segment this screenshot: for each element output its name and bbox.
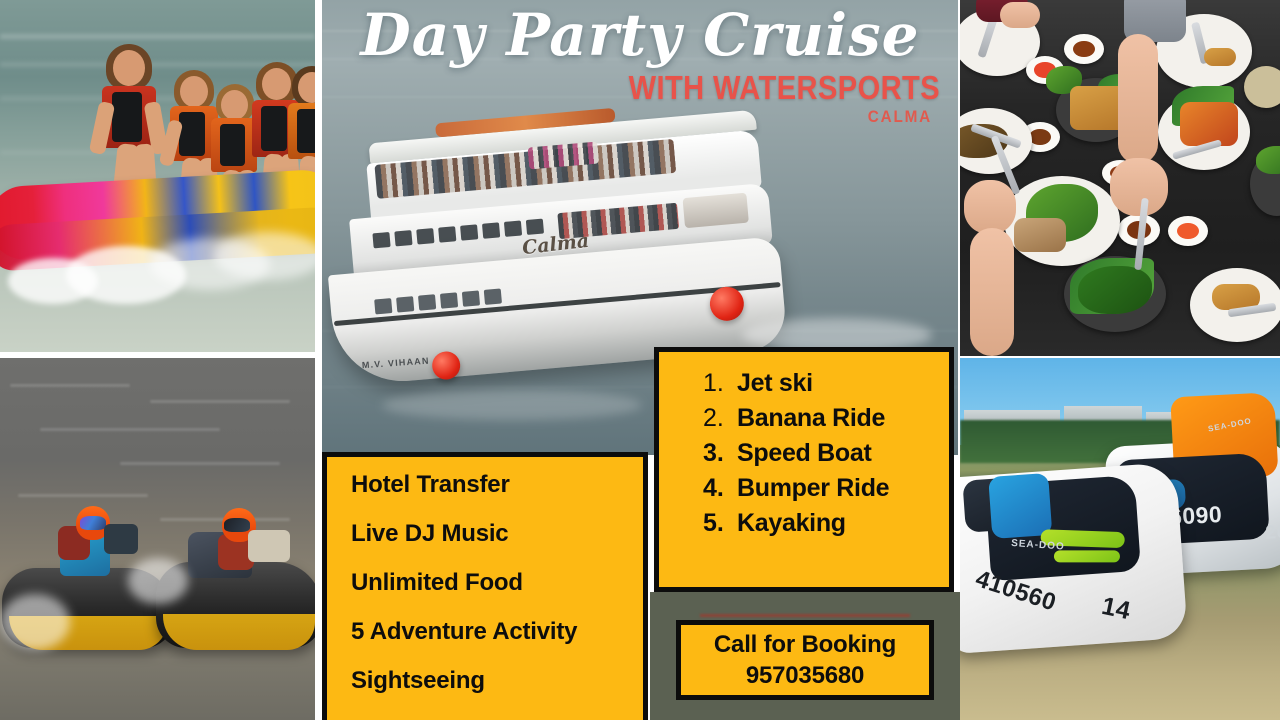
activity-label: Bumper Ride	[737, 475, 889, 501]
activity-item: 3. Speed Boat	[659, 440, 949, 466]
decorative-smudge	[700, 614, 910, 617]
poster-collage: 456090 20 SEA-DOO 410560 14 SEA-DOO	[0, 0, 1280, 720]
jet-ski-front: 410560 14 SEA-DOO	[960, 462, 1188, 654]
activity-label: Banana Ride	[737, 405, 885, 431]
activity-label: Kayaking	[737, 510, 846, 536]
activity-index: 1.	[703, 370, 737, 396]
sauce-bowl	[1168, 216, 1208, 246]
rider	[288, 66, 315, 186]
activity-item: 5. Kayaking	[659, 510, 949, 536]
diner-hand	[1118, 34, 1158, 164]
sauce-bowl	[1064, 34, 1104, 64]
poster-subheadline: WITH WATERSPORTS	[405, 70, 940, 106]
photo-food-spread	[960, 0, 1280, 356]
booking-panel[interactable]: Call for Booking 957035680	[676, 620, 934, 700]
amenity-item: 5 Adventure Activity	[351, 620, 643, 644]
photo-jet-skis: 456090 20 SEA-DOO 410560 14 SEA-DOO	[960, 358, 1280, 720]
amenities-panel: Hotel Transfer Live DJ Music Unlimited F…	[322, 452, 648, 720]
activity-index: 4.	[703, 475, 737, 501]
poster-headline: Day Party Cruise	[332, 4, 948, 66]
activity-item: 4. Bumper Ride	[659, 475, 949, 501]
jet-ski-front-unit: 14	[1099, 592, 1133, 626]
amenity-item: Live DJ Music	[351, 522, 643, 546]
diner-hand	[970, 228, 1014, 356]
amenity-item: Hotel Transfer	[351, 473, 643, 497]
activity-index: 2.	[703, 405, 737, 431]
booking-phone-number[interactable]: 957035680	[746, 660, 864, 691]
photo-banana-ride	[0, 0, 315, 352]
activity-label: Speed Boat	[737, 440, 872, 466]
activity-index: 5.	[703, 510, 737, 536]
amenity-item: Unlimited Food	[351, 571, 643, 595]
activity-item: 2. Banana Ride	[659, 405, 949, 431]
poster-brand: CALMA	[392, 107, 932, 127]
diner-hand	[1000, 2, 1040, 28]
booking-cta-label: Call for Booking	[714, 629, 896, 660]
jet-ski-rear-unit: 20	[1265, 522, 1280, 545]
activity-label: Jet ski	[737, 370, 813, 396]
diner-hand	[964, 180, 1016, 234]
amenity-item: Sightseeing	[351, 669, 643, 693]
activities-panel: 1. Jet ski 2. Banana Ride 3. Speed Boat …	[654, 347, 954, 592]
photo-bumper-ride	[0, 358, 315, 720]
rider	[96, 44, 162, 184]
diner-hand	[1110, 158, 1168, 216]
activity-item: 1. Jet ski	[659, 370, 949, 396]
activity-index: 3.	[703, 440, 737, 466]
